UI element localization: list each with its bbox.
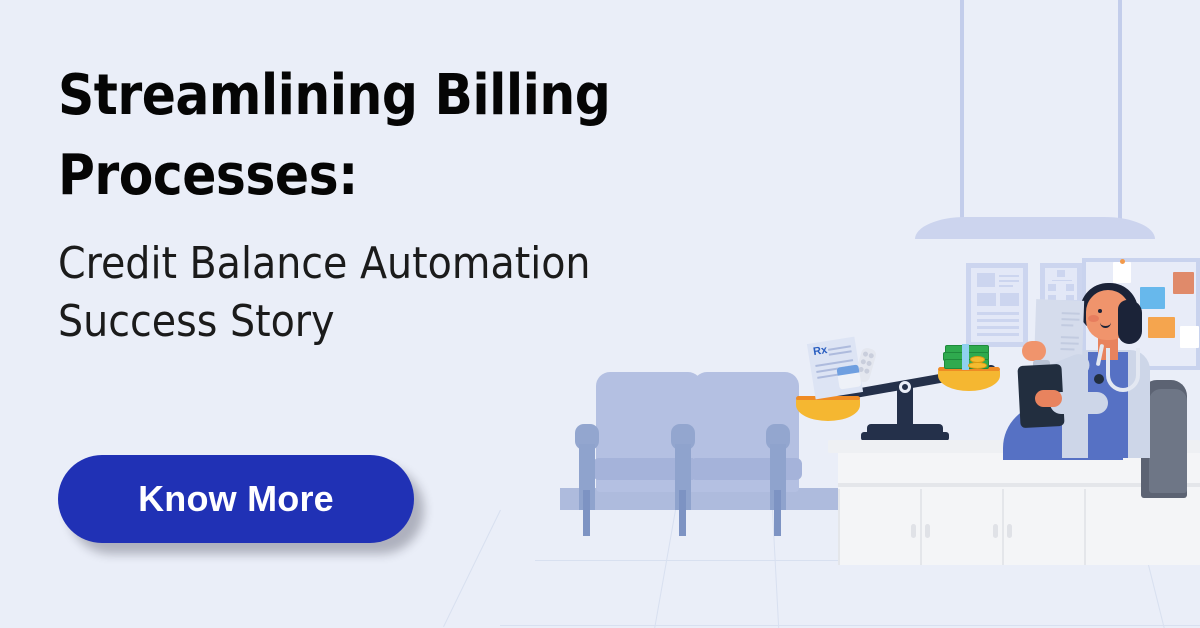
doctor-raised-hand	[1022, 341, 1046, 361]
chair-leg	[774, 490, 781, 536]
org-chart-node	[1048, 284, 1056, 291]
floor-line-diagonal-4	[1148, 565, 1166, 628]
doctor-cheek	[1088, 315, 1099, 322]
cabinet-door[interactable]	[920, 489, 1000, 565]
doctor-eye	[1098, 309, 1102, 313]
doctor-hand-on-clipboard	[1035, 390, 1062, 407]
know-more-button[interactable]: Know More	[58, 455, 414, 543]
cabinet-handle	[911, 524, 916, 538]
doctor-hair-side	[1118, 300, 1142, 344]
stethoscope-tube	[1106, 348, 1140, 392]
poster-image-block	[1000, 293, 1019, 306]
floor-line-diagonal-2	[652, 510, 676, 628]
scale-pivot	[899, 381, 911, 393]
poster-text-line	[977, 333, 1019, 336]
sticky-note-blue	[1140, 287, 1165, 309]
poster-text-line	[977, 319, 1019, 322]
poster-text-line	[999, 275, 1019, 277]
cabinet-door[interactable]	[1002, 489, 1082, 565]
office-chair-cushion	[1149, 389, 1187, 493]
cabinet-door[interactable]	[1084, 489, 1164, 565]
sticky-note-salmon	[1173, 272, 1194, 294]
chair-leg	[583, 490, 590, 536]
poster-image-block	[977, 293, 996, 306]
page-title: Streamlining Billing Processes:	[58, 56, 718, 215]
org-chart-connector	[1052, 280, 1072, 281]
cabinet-handle	[993, 524, 998, 538]
sticky-note-orange	[1148, 317, 1175, 338]
poster-image-block	[977, 273, 995, 287]
lamp-cord-right	[1118, 0, 1122, 220]
cabinet-handle	[1007, 524, 1012, 538]
scale-pan-right	[938, 371, 1000, 391]
copy-block: Streamlining Billing Processes: Credit B…	[58, 56, 718, 351]
poster-text-line	[999, 280, 1019, 282]
rx-label: Rx	[812, 344, 828, 358]
chair-leg	[679, 490, 686, 536]
promo-banner: Rx	[0, 0, 1200, 628]
stethoscope-bell	[1094, 374, 1104, 384]
org-chart-node	[1066, 284, 1074, 291]
poster-text-line	[999, 285, 1013, 287]
page-subtitle: Credit Balance Automation Success Story	[58, 235, 718, 351]
gold-coin-bottom	[968, 362, 987, 369]
poster-text-line	[977, 312, 1019, 315]
org-chart-node	[1057, 270, 1065, 277]
pendant-lamp-shade	[915, 217, 1155, 239]
sticky-note-white-bottom	[1180, 326, 1199, 348]
floor-line-diagonal-1	[443, 510, 501, 627]
cabinet-door[interactable]	[838, 489, 918, 565]
lamp-cord-left	[960, 0, 964, 220]
gold-coin-top	[970, 356, 985, 363]
floor-line-horizontal-2	[500, 625, 1200, 626]
poster-text-line	[977, 326, 1019, 329]
scale-pan-left	[796, 400, 860, 421]
sticky-note-white-top	[1113, 262, 1131, 283]
pill-bottle	[836, 364, 861, 389]
cabinet-handle	[925, 524, 930, 538]
sticky-note-pin	[1120, 259, 1125, 264]
